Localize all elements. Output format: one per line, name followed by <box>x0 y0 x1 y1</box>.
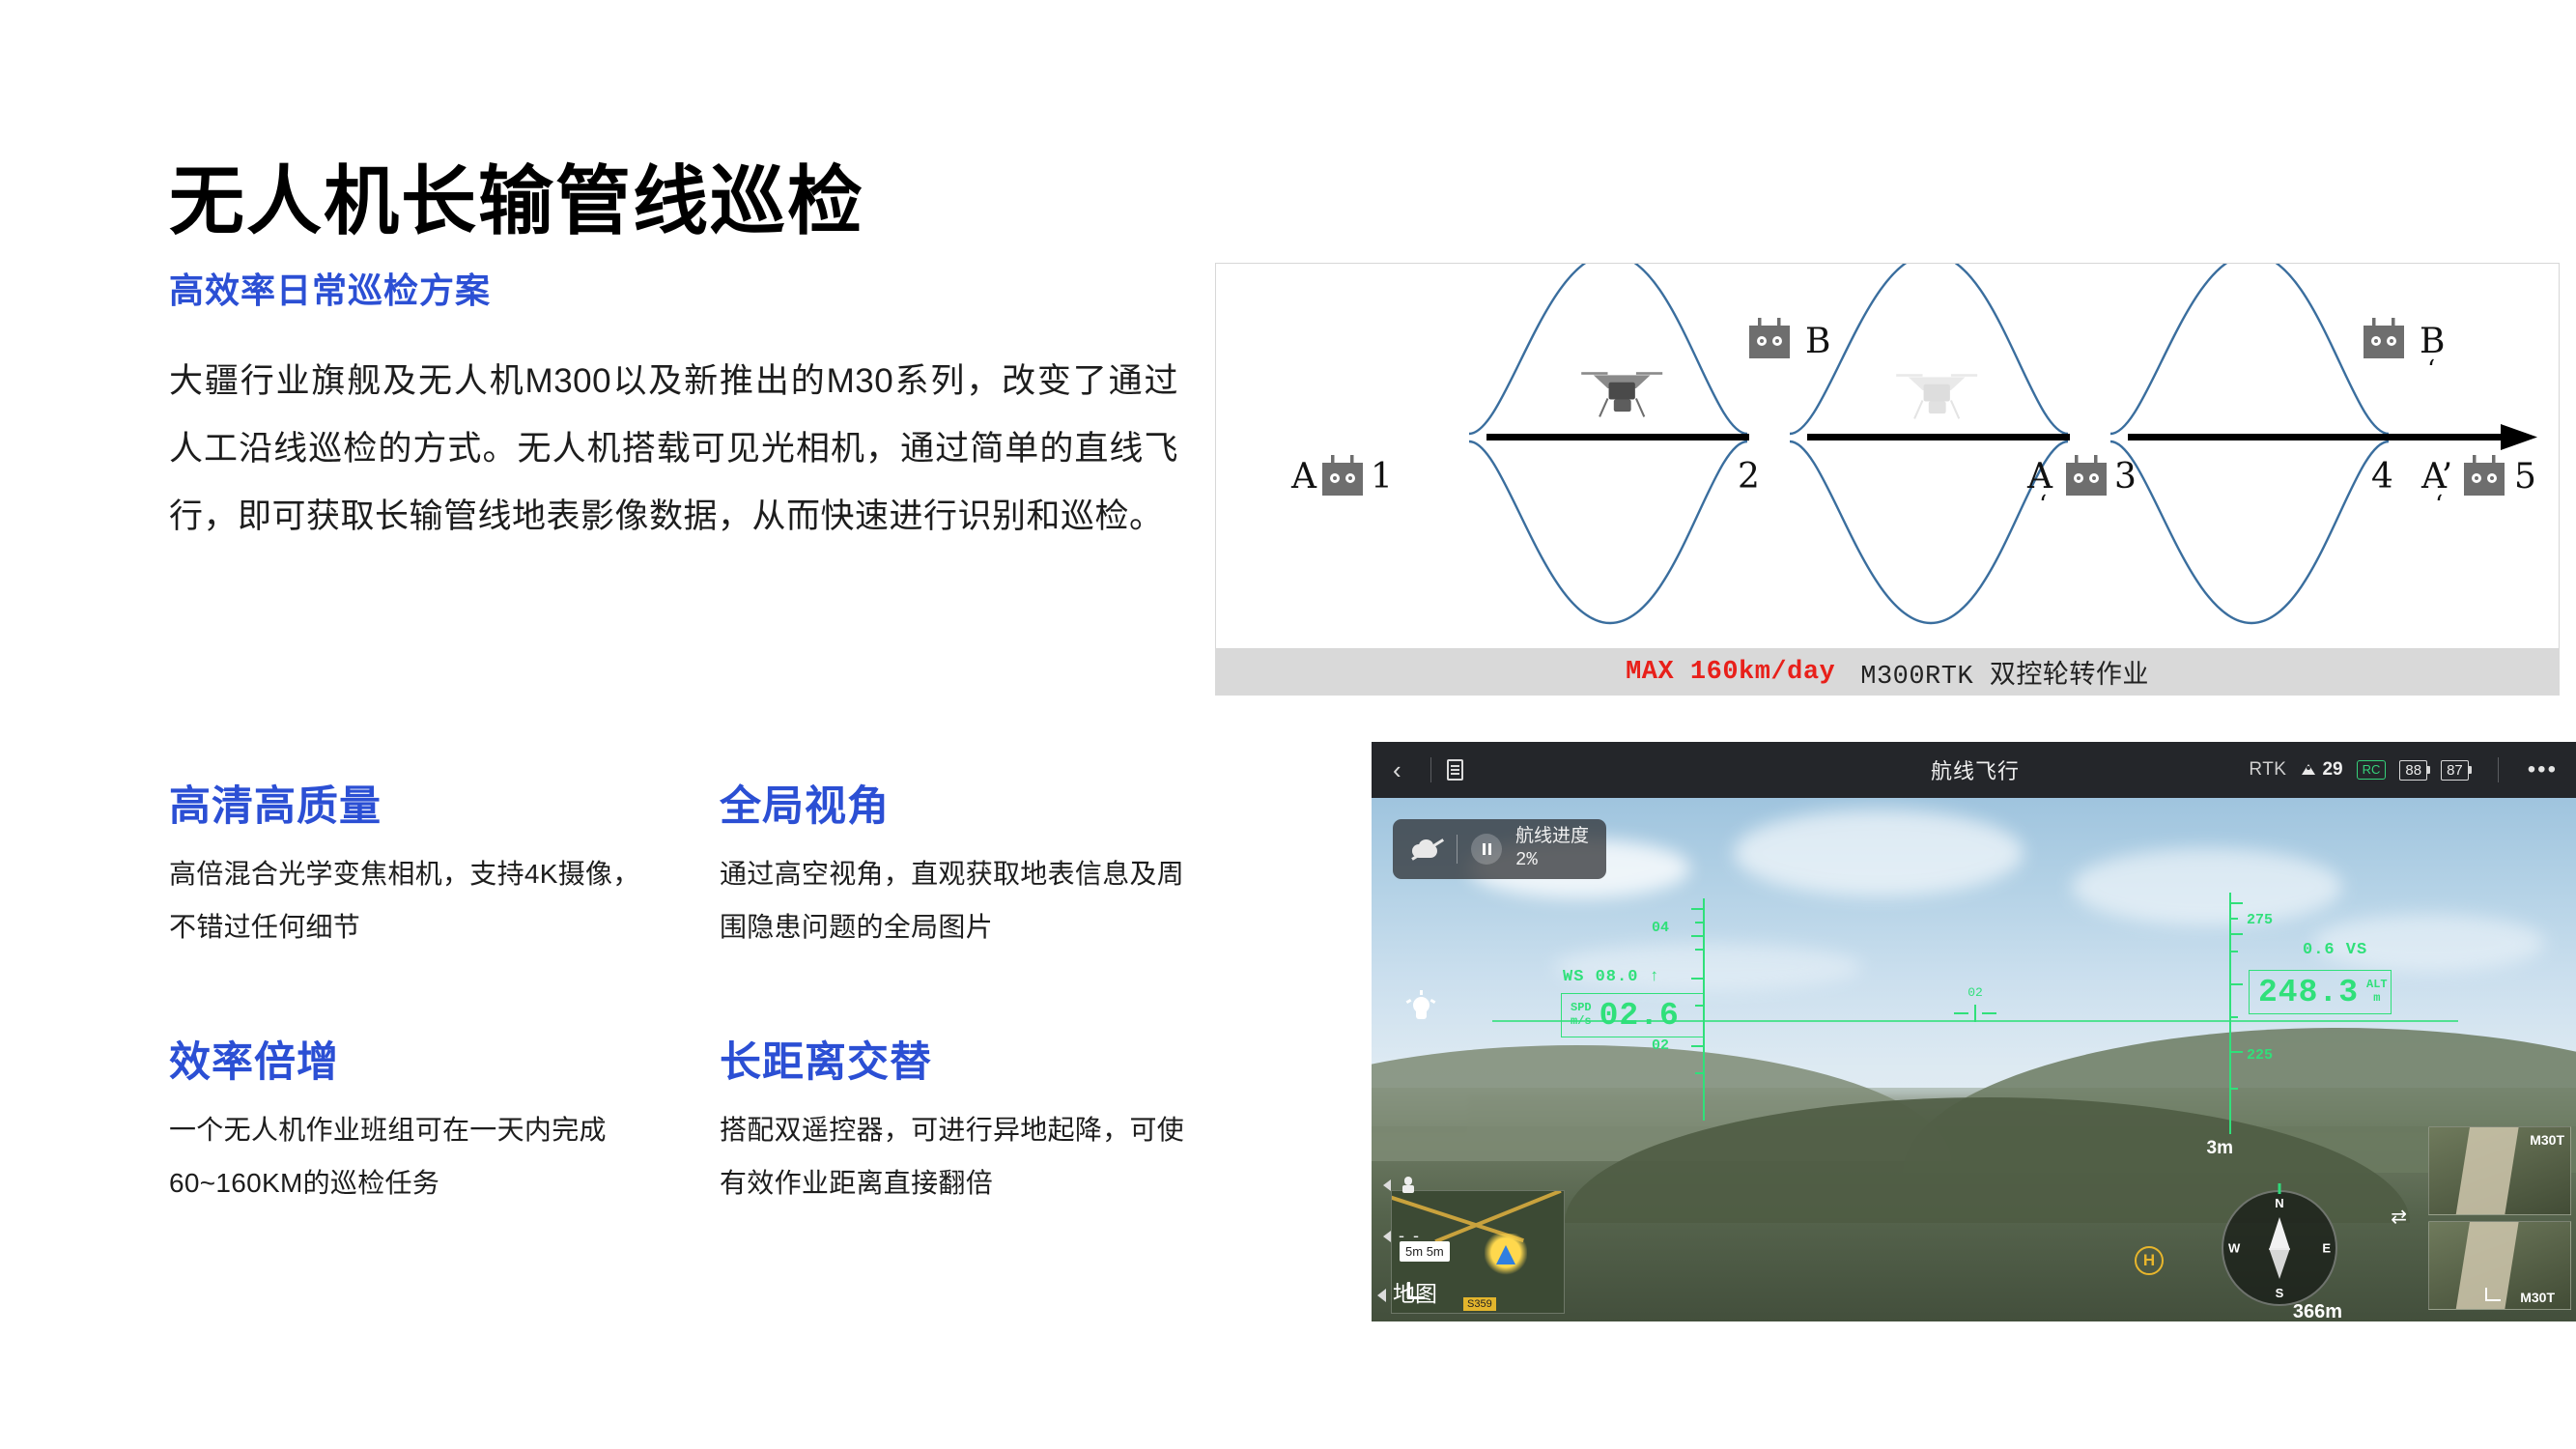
route-progress-label: 航线进度 <box>1515 826 1589 849</box>
feature-card-2: 全局视角 通过高空视角，直观获取地表信息及周围隐患问题的全局图片 <box>720 773 1222 953</box>
checklist-icon[interactable] <box>1447 759 1463 781</box>
terrain-trail <box>2455 1126 2519 1215</box>
svg-text:5: 5 <box>2514 457 2536 497</box>
map-expand-caret-icon[interactable] <box>1377 1289 1386 1302</box>
diagram-svg: A 1 B 2 A ‘ 3 B ‘ 4 A’ ‘ 5 <box>1216 264 2561 650</box>
fpv-topbar: ‹ 航线飞行 RTK 29 RC 88 87 ••• <box>1372 742 2576 798</box>
svg-text:3: 3 <box>2114 457 2137 497</box>
gimbal-icon <box>1399 1175 1418 1196</box>
compass-w-label: W <box>2228 1241 2240 1256</box>
compass-needle-lower <box>2269 1248 2290 1279</box>
intro-paragraph: 大疆行业旗舰及无人机M300以及新推出的M30系列，改变了通过人工沿线巡检的方式… <box>169 348 1178 551</box>
rc-badge: RC <box>2357 760 2387 780</box>
svg-text:‘: ‘ <box>2427 355 2435 384</box>
satellite-status: 29 <box>2300 759 2342 781</box>
agl-readout: 3m <box>2207 1138 2233 1159</box>
battery-2: 87 <box>2441 760 2469 781</box>
feature-card-1: 高清高质量 高倍混合光学变焦相机，支持4K摄像，不错过任何细节 <box>169 773 720 953</box>
battery-1: 88 <box>2399 760 2427 781</box>
camera-thumbnail[interactable]: M30T <box>2428 1126 2571 1215</box>
svg-text:1: 1 <box>1371 457 1393 497</box>
divider <box>1430 757 1431 782</box>
feature-heading: 效率倍增 <box>169 1029 720 1089</box>
distance-readout: 366m <box>2293 1301 2342 1321</box>
thumbnail-label: M30T <box>2520 1290 2555 1305</box>
svg-text:‘: ‘ <box>2435 491 2443 520</box>
feature-body: 高倍混合光学变焦相机，支持4K摄像，不错过任何细节 <box>169 848 652 953</box>
compass-needle <box>2269 1217 2290 1250</box>
page-subtitle: 高效率日常巡检方案 <box>169 263 1193 313</box>
road-badge: S359 <box>1463 1297 1496 1311</box>
caption-mode: M300RTK 双控轮转作业 <box>1860 653 2149 692</box>
satellite-icon <box>2300 762 2317 778</box>
compass-s-label: S <box>2276 1286 2284 1300</box>
pause-icon[interactable] <box>1471 834 1502 865</box>
camera-thumbnail-stack: M30T M30T <box>2428 1126 2571 1316</box>
feature-card-3: 效率倍增 一个无人机作业班组可在一天内完成60~160KM的巡检任务 <box>169 1029 720 1209</box>
divider <box>1457 835 1458 864</box>
flight-pattern-diagram: A 1 B 2 A ‘ 3 B ‘ 4 A’ ‘ 5 <box>1215 263 2560 649</box>
satellite-count: 29 <box>2322 759 2342 781</box>
caption-max-distance: MAX 160km/day <box>1626 658 1835 687</box>
route-progress-value: 2% <box>1515 849 1589 872</box>
compass-e-label: E <box>2322 1241 2331 1256</box>
more-menu-icon[interactable]: ••• <box>2528 756 2558 783</box>
dashes-icon: - - <box>1399 1226 1421 1246</box>
camera-swap-icon[interactable]: ⇄ <box>2391 1205 2407 1229</box>
compass-n-label: N <box>2275 1196 2283 1210</box>
map-label[interactable]: 地图 <box>1393 1275 1437 1308</box>
cloud <box>2072 848 2342 925</box>
svg-text:B: B <box>1805 322 1830 361</box>
cloud <box>1734 810 2024 896</box>
cloud <box>2313 914 2545 972</box>
svg-text:A: A <box>1290 457 1317 497</box>
slide-root: 无人机长输管线巡检 高效率日常巡检方案 大疆行业旗舰及无人机M300以及新推出的… <box>0 0 2576 1449</box>
feature-grid: 高清高质量 高倍混合光学变焦相机，支持4K摄像，不错过任何细节 全局视角 通过高… <box>169 773 1222 1209</box>
thumbnail-label: M30T <box>2530 1132 2564 1148</box>
feature-body: 一个无人机作业班组可在一天内完成60~160KM的巡检任务 <box>169 1104 652 1209</box>
svg-text:‘: ‘ <box>2039 491 2047 520</box>
attitude-compass: N E S W <box>2222 1190 2337 1306</box>
camera-thumbnail[interactable]: M30T <box>2428 1221 2571 1310</box>
feature-heading: 长距离交替 <box>720 1029 1222 1089</box>
obstacle-avoidance-off-icon[interactable] <box>1410 837 1443 862</box>
camera-mode-button[interactable]: - - <box>1383 1226 1421 1246</box>
feature-heading: 全局视角 <box>720 773 1222 833</box>
route-progress-widget[interactable]: 航线进度 2% <box>1393 819 1606 879</box>
compass-north-pip <box>2279 1183 2281 1194</box>
home-point-marker: H <box>2135 1246 2164 1275</box>
aircraft-position-marker <box>1485 1234 1527 1276</box>
feature-card-4: 长距离交替 搭配双遥控器，可进行异地起降，可使有效作业距离直接翻倍 <box>720 1029 1222 1209</box>
feature-heading: 高清高质量 <box>169 773 720 833</box>
focus-bracket-icon <box>2485 1288 2501 1301</box>
divider <box>2498 757 2499 782</box>
page-title: 无人机长输管线巡检 <box>169 162 1193 241</box>
svg-text:4: 4 <box>2371 457 2393 497</box>
feature-body: 通过高空视角，直观获取地表信息及周围隐患问题的全局图片 <box>720 848 1203 953</box>
left-column: 无人机长输管线巡检 高效率日常巡检方案 大疆行业旗舰及无人机M300以及新推出的… <box>169 162 1193 551</box>
feature-body: 搭配双遥控器，可进行异地起降，可使有效作业距离直接翻倍 <box>720 1104 1203 1209</box>
rtk-status: RTK <box>2249 759 2286 781</box>
back-icon[interactable]: ‹ <box>1393 755 1401 785</box>
cloud <box>1553 943 1862 991</box>
gimbal-control-button[interactable] <box>1383 1175 1418 1196</box>
svg-text:2: 2 <box>1738 457 1760 497</box>
drone-fpv-screenshot: ‹ 航线飞行 RTK 29 RC 88 87 ••• <box>1372 742 2576 1321</box>
diagram-caption: MAX 160km/day M300RTK 双控轮转作业 <box>1215 649 2560 696</box>
